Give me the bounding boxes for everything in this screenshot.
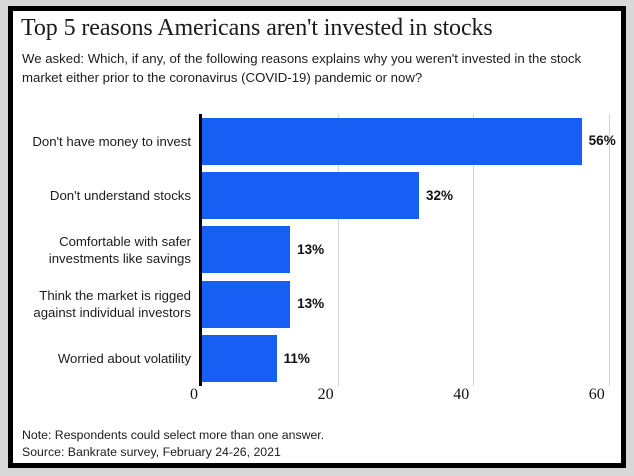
bar xyxy=(202,335,277,382)
bar xyxy=(202,118,582,165)
x-tick-label-60: 60 xyxy=(567,386,605,404)
category-label-line: Comfortable with safer xyxy=(13,233,191,250)
bar-row: Think the market is riggedagainst indivi… xyxy=(13,277,621,331)
footnote-note: Note: Respondents could select more than… xyxy=(22,427,607,444)
x-tick-label-20: 20 xyxy=(296,386,334,404)
bar xyxy=(202,281,290,328)
category-label-line: Don't have money to invest xyxy=(13,133,191,150)
bar-row: Don't understand stocks32% xyxy=(13,168,621,222)
x-axis: 0204060 xyxy=(13,386,621,408)
bar xyxy=(202,226,290,273)
category-label: Think the market is riggedagainst indivi… xyxy=(13,287,191,321)
category-label: Worried about volatility xyxy=(13,350,191,367)
chart-subtitle: We asked: Which, if any, of the followin… xyxy=(22,49,607,87)
category-label-line: Don't understand stocks xyxy=(13,187,191,204)
category-label: Don't understand stocks xyxy=(13,187,191,204)
category-label-line: against individual investors xyxy=(13,304,191,321)
bar-value-label: 13% xyxy=(297,296,324,311)
category-label-line: Worried about volatility xyxy=(13,350,191,367)
chart-inner: Top 5 reasons Americans aren't invested … xyxy=(13,11,621,463)
category-label-line: Think the market is rigged xyxy=(13,287,191,304)
x-tick-label-40: 40 xyxy=(431,386,469,404)
bar xyxy=(202,172,419,219)
bar-value-label: 32% xyxy=(426,188,453,203)
category-label-line: investments like savings xyxy=(13,250,191,267)
bar-row: Comfortable with saferinvestments like s… xyxy=(13,223,621,277)
footnote-source: Source: Bankrate survey, February 24-26,… xyxy=(22,444,607,461)
category-label: Don't have money to invest xyxy=(13,133,191,150)
bar-row: Don't have money to invest56% xyxy=(13,114,621,168)
chart-footnote: Note: Respondents could select more than… xyxy=(22,427,607,461)
x-tick-label-0: 0 xyxy=(160,386,198,404)
bar-value-label: 56% xyxy=(589,133,616,148)
category-label: Comfortable with saferinvestments like s… xyxy=(13,233,191,267)
bar-row: Worried about volatility11% xyxy=(13,332,621,386)
plot-area: Don't have money to invest56%Don't under… xyxy=(13,114,621,386)
bar-value-label: 13% xyxy=(297,242,324,257)
chart-title: Top 5 reasons Americans aren't invested … xyxy=(21,15,616,42)
chart-figure: Top 5 reasons Americans aren't invested … xyxy=(8,6,626,468)
bar-value-label: 11% xyxy=(284,351,310,366)
